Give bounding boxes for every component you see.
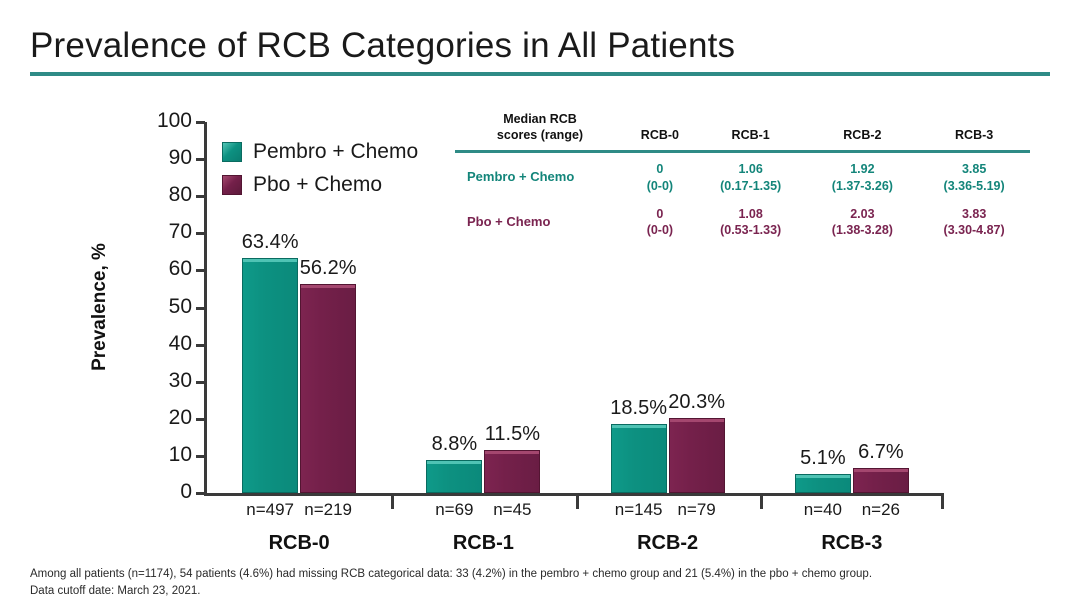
bar-n-label: n=40 [795, 500, 851, 520]
y-axis-tick-label: 30 [146, 369, 192, 393]
bar-n-label: n=219 [300, 500, 356, 520]
y-axis-tick-label: 80 [146, 183, 192, 207]
table-col-header-rcb0: RCB-0 [625, 112, 695, 152]
bar-n-label: n=69 [426, 500, 482, 520]
legend-item-pbo: Pbo + Chemo [222, 173, 418, 197]
bar-rcb-3-pembro [795, 474, 851, 493]
bar-n-label: n=79 [669, 500, 725, 520]
bar-rcb-1-pbo [484, 450, 540, 493]
x-axis-end-tick [941, 496, 944, 509]
table-cell-pbo-rcb2: 2.03 (1.38-3.28) [807, 198, 919, 243]
table-corner-header-line1: Median RCB [455, 112, 625, 128]
slide-root: Prevalence of RCB Categories in All Pati… [0, 0, 1080, 608]
table-row: Pembro + Chemo 0 (0-0) 1.06 (0.17-1.35) … [455, 152, 1030, 198]
y-axis-tick [196, 232, 205, 235]
title-underline-rule [30, 72, 1050, 76]
page-title: Prevalence of RCB Categories in All Pati… [30, 26, 735, 66]
table-row-label-pbo: Pbo + Chemo [455, 198, 625, 243]
legend-label-pembro: Pembro + Chemo [253, 140, 418, 164]
y-axis-tick [196, 269, 205, 272]
bar-rcb-3-pbo [853, 468, 909, 493]
bar-rcb-1-pembro [426, 460, 482, 493]
y-axis-tick [196, 195, 205, 198]
x-axis-group-label-rcb-3: RCB-3 [760, 532, 944, 555]
median-rcb-scores-table: Median RCB scores (range) RCB-0 RCB-1 RC… [455, 112, 1030, 242]
table-col-header-rcb2: RCB-2 [807, 112, 919, 152]
bar-rcb-2-pbo [669, 418, 725, 493]
table-cell-pembro-rcb0: 0 (0-0) [625, 152, 695, 198]
bar-value-label: 11.5% [469, 423, 555, 446]
y-axis-tick-label: 20 [146, 406, 192, 430]
y-axis-tick-label: 40 [146, 332, 192, 356]
legend-swatch-pembro-icon [222, 142, 242, 162]
table-cell-pbo-rcb1: 1.08 (0.53-1.33) [695, 198, 807, 243]
footnote: Among all patients (n=1174), 54 patients… [30, 566, 1060, 599]
table-col-header-rcb3: RCB-3 [918, 112, 1030, 152]
y-axis-tick [196, 492, 205, 495]
bar-value-label: 20.3% [654, 391, 740, 414]
table-cell-pbo-rcb0: 0 (0-0) [625, 198, 695, 243]
bar-value-label: 63.4% [227, 231, 313, 254]
y-axis-tick-label: 100 [146, 109, 192, 133]
x-axis-line [204, 493, 944, 496]
y-axis-tick [196, 381, 205, 384]
y-axis-tick [196, 158, 205, 161]
y-axis-tick [196, 307, 205, 310]
y-axis-tick-label: 10 [146, 443, 192, 467]
y-axis-tick [196, 344, 205, 347]
table-corner-header-line2: scores (range) [455, 128, 625, 144]
table-row: Pbo + Chemo 0 (0-0) 1.08 (0.53-1.33) 2.0… [455, 198, 1030, 243]
table-corner-header: Median RCB scores (range) [455, 112, 625, 152]
y-axis-tick-label: 0 [146, 480, 192, 504]
table-header-row: Median RCB scores (range) RCB-0 RCB-1 RC… [455, 112, 1030, 152]
bar-n-label: n=26 [853, 500, 909, 520]
table-cell-pbo-rcb3: 3.83 (3.30-4.87) [918, 198, 1030, 243]
x-axis-group-label-rcb-2: RCB-2 [576, 532, 760, 555]
bar-n-label: n=145 [611, 500, 667, 520]
y-axis-tick-label: 70 [146, 220, 192, 244]
legend-swatch-pbo-icon [222, 175, 242, 195]
footnote-line-1: Among all patients (n=1174), 54 patients… [30, 566, 1060, 583]
table-cell-pembro-rcb3: 3.85 (3.36-5.19) [918, 152, 1030, 198]
bar-rcb-0-pbo [300, 284, 356, 493]
y-axis-tick-label: 60 [146, 257, 192, 281]
bar-rcb-2-pembro [611, 424, 667, 493]
bar-value-label: 6.7% [838, 441, 924, 464]
x-axis-group-label-rcb-1: RCB-1 [391, 532, 575, 555]
y-axis-tick-label: 90 [146, 146, 192, 170]
y-axis-tick [196, 121, 205, 124]
legend-item-pembro: Pembro + Chemo [222, 140, 418, 164]
bar-rcb-0-pembro [242, 258, 298, 493]
y-axis-tick [196, 455, 205, 458]
bar-n-label: n=497 [242, 500, 298, 520]
legend-label-pbo: Pbo + Chemo [253, 173, 382, 197]
y-axis-tick-label: 50 [146, 295, 192, 319]
footnote-line-2: Data cutoff date: March 23, 2021. [30, 583, 1060, 600]
bar-value-label: 56.2% [285, 257, 371, 280]
table-row-label-pembro: Pembro + Chemo [455, 152, 625, 198]
table-cell-pembro-rcb2: 1.92 (1.37-3.26) [807, 152, 919, 198]
table-cell-pembro-rcb1: 1.06 (0.17-1.35) [695, 152, 807, 198]
x-axis-group-tick [760, 496, 763, 509]
x-axis-group-tick [576, 496, 579, 509]
table-col-header-rcb1: RCB-1 [695, 112, 807, 152]
bar-n-label: n=45 [484, 500, 540, 520]
y-axis-tick [196, 418, 205, 421]
x-axis-group-label-rcb-0: RCB-0 [207, 532, 391, 555]
chart-legend: Pembro + Chemo Pbo + Chemo [222, 140, 418, 206]
y-axis-title: Prevalence, % [89, 197, 111, 417]
x-axis-group-tick [391, 496, 394, 509]
